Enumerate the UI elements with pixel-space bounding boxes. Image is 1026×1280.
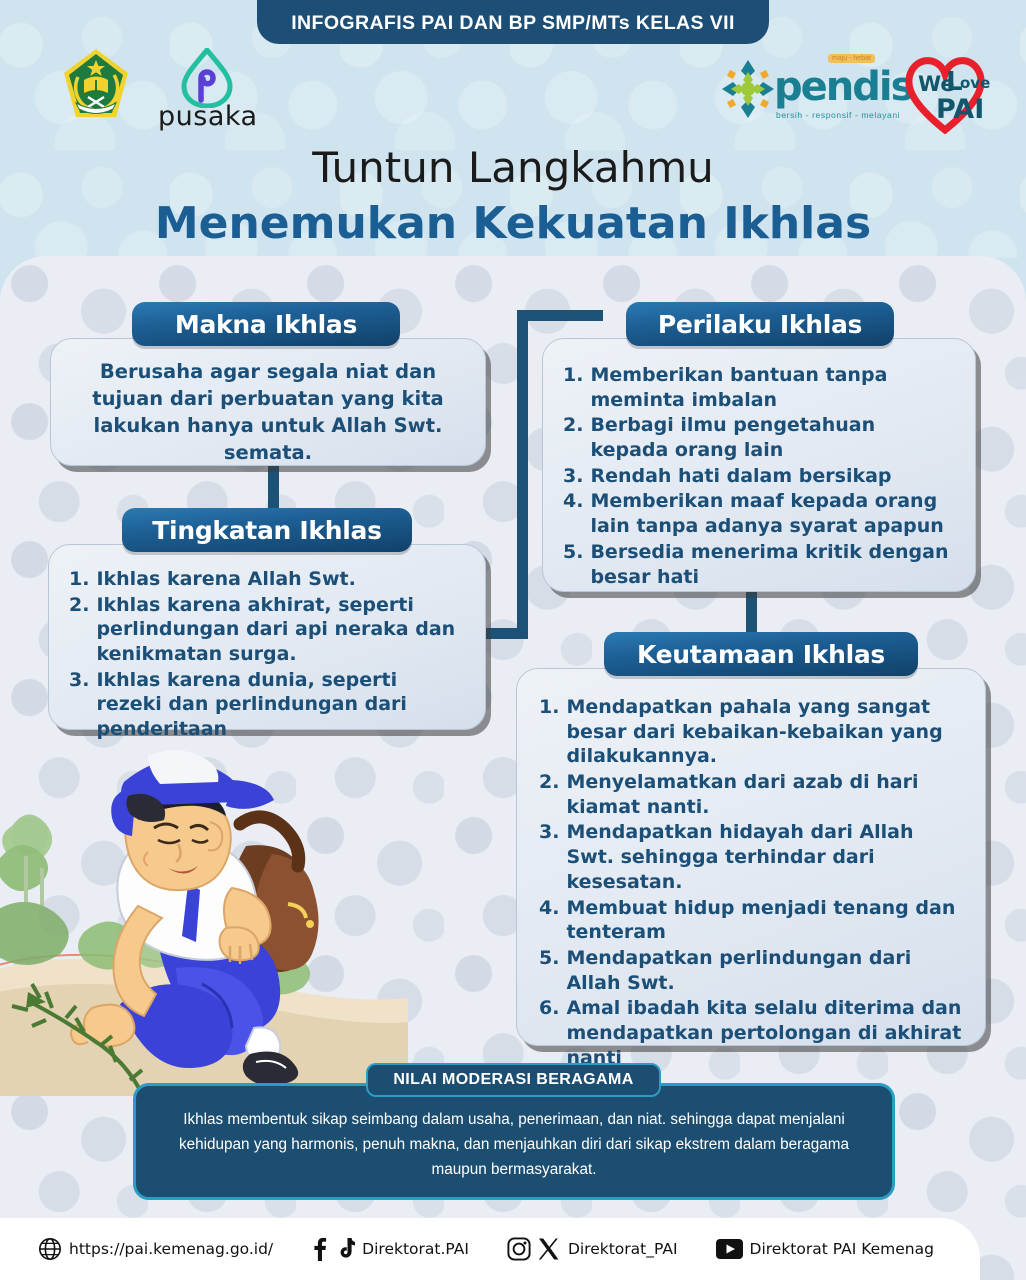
headline-block: Tuntun Langkahmu Menemukan Kekuatan Ikhl…: [0, 143, 1026, 249]
card-perilaku-title: Perilaku Ikhlas: [658, 310, 862, 339]
card-tingkatan-ikhlas: Tingkatan Ikhlas 1.Ikhlas karena Allah S…: [48, 508, 486, 730]
card-keutamaan-title: Keutamaan Ikhlas: [637, 640, 885, 669]
pusaka-wordmark: pusaka: [158, 101, 256, 132]
moderasi-badge: NILAI MODERASI BERAGAMA: [366, 1063, 661, 1097]
card-perilaku-header: Perilaku Ikhlas: [626, 302, 894, 346]
youtube-icon: [716, 1239, 743, 1259]
card-perilaku-list: 1.Memberikan bantuan tanpa meminta imbal…: [563, 363, 955, 589]
list-item: 6.Amal ibadah kita selalu diterima dan m…: [539, 996, 963, 1070]
x-twitter-icon: [538, 1237, 561, 1261]
banner-title-pill: INFOGRAFIS PAI DAN BP SMP/MTs KELAS VII: [257, 0, 769, 44]
globe-icon: [38, 1237, 62, 1261]
connector-elbow-vertical: [517, 310, 528, 639]
list-item: 3.Rendah hati dalam bersikap: [563, 464, 955, 489]
headline-line-2: Menemukan Kekuatan Ikhlas: [0, 198, 1026, 249]
list-item: 3.Mendapatkan hidayah dari Allah Swt. se…: [539, 820, 963, 894]
list-item: 5.Mendapatkan perlindungan dari Allah Sw…: [539, 946, 963, 995]
card-keutamaan-header: Keutamaan Ikhlas: [604, 632, 918, 676]
pusaka-droplet-icon: [158, 48, 256, 108]
instagram-icon: [507, 1237, 531, 1261]
kemenag-logo-icon: [62, 47, 130, 121]
card-makna-paragraph: Berusaha agar segala niat dan tujuan dar…: [73, 359, 463, 467]
tiktok-icon: [335, 1237, 355, 1261]
card-tingkatan-header: Tingkatan Ikhlas: [122, 508, 412, 552]
footer-website-label: https://pai.kemenag.go.id/: [69, 1240, 273, 1258]
list-item: 2.Menyelamatkan dari azab di hari kiamat…: [539, 770, 963, 819]
card-makna-header: Makna Ikhlas: [132, 302, 400, 346]
card-perilaku-body: 1.Memberikan bantuan tanpa meminta imbal…: [542, 338, 976, 592]
we-love-pai-logo: We L ove PAI: [900, 50, 990, 134]
footer-youtube[interactable]: Direktorat PAI Kemenag: [716, 1239, 934, 1259]
footer-website[interactable]: https://pai.kemenag.go.id/: [38, 1237, 273, 1261]
footer-instagram-x-label: Direktorat_PAI: [568, 1240, 678, 1258]
card-tingkatan-list: 1.Ikhlas karena Allah Swt. 2.Ikhlas kare…: [69, 567, 465, 742]
list-item: 1.Mendapatkan pahala yang sangat besar d…: [539, 695, 963, 769]
pendis-ornament-icon: [720, 58, 776, 120]
moderasi-box: Ikhlas membentuk sikap seimbang dalam us…: [133, 1083, 895, 1200]
list-item: 2.Ikhlas karena akhirat, seperti perlind…: [69, 593, 465, 667]
list-item: 4.Membuat hidup menjadi tenang dan tente…: [539, 896, 963, 945]
pendis-tagline: bersih - responsif - melayani: [776, 110, 900, 120]
card-makna-title: Makna Ikhlas: [175, 310, 357, 339]
footer-facebook-tiktok-label: Direktorat.PAI: [362, 1240, 469, 1258]
card-tingkatan-title: Tingkatan Ikhlas: [152, 516, 381, 545]
list-item: 2.Berbagi ilmu pengetahuan kepada orang …: [563, 413, 955, 462]
pusaka-logo: pusaka: [158, 48, 256, 132]
pendis-wordmark: pendis: [774, 64, 912, 110]
footer-youtube-label: Direktorat PAI Kemenag: [750, 1240, 934, 1258]
card-keutamaan-body: 1.Mendapatkan pahala yang sangat besar d…: [516, 668, 986, 1046]
list-item: 1.Memberikan bantuan tanpa meminta imbal…: [563, 363, 955, 412]
facebook-icon: [311, 1237, 328, 1261]
card-keutamaan-list: 1.Mendapatkan pahala yang sangat besar d…: [539, 695, 963, 1070]
headline-line-1: Tuntun Langkahmu: [0, 143, 1026, 192]
list-item: 3.Ikhlas karena dunia, seperti rezeki da…: [69, 668, 465, 742]
list-item: 5.Bersedia menerima kritik dengan besar …: [563, 540, 955, 589]
moderasi-text: Ikhlas membentuk sikap seimbang dalam us…: [166, 1108, 862, 1182]
footer-facebook-tiktok[interactable]: Direktorat.PAI: [311, 1237, 469, 1261]
list-item: 4.Memberikan maaf kepada orang lain tanp…: [563, 489, 955, 538]
pendis-badge: maju - hebat: [828, 54, 875, 63]
moderasi-badge-text: NILAI MODERASI BERAGAMA: [393, 1071, 633, 1089]
welove-pai-text: PAI: [936, 94, 984, 125]
student-illustration: [0, 736, 408, 1096]
banner-title-text: INFOGRAFIS PAI DAN BP SMP/MTs KELAS VII: [291, 12, 735, 35]
welove-ove-text: ove: [960, 74, 990, 92]
list-item: 1.Ikhlas karena Allah Swt.: [69, 567, 465, 592]
card-makna-ikhlas: Makna Ikhlas Berusaha agar segala niat d…: [50, 302, 486, 466]
footer-instagram-x[interactable]: Direktorat_PAI: [507, 1237, 678, 1261]
card-keutamaan-ikhlas: Keutamaan Ikhlas 1.Mendapatkan pahala ya…: [516, 632, 986, 1046]
footer-bar: https://pai.kemenag.go.id/ Direktorat.PA…: [0, 1218, 980, 1280]
pendis-logo: pendis maju - hebat bersih - responsif -…: [720, 52, 895, 130]
card-tingkatan-body: 1.Ikhlas karena Allah Swt. 2.Ikhlas kare…: [48, 544, 486, 730]
card-makna-body: Berusaha agar segala niat dan tujuan dar…: [50, 338, 486, 466]
card-perilaku-ikhlas: Perilaku Ikhlas 1.Memberikan bantuan tan…: [542, 302, 976, 592]
